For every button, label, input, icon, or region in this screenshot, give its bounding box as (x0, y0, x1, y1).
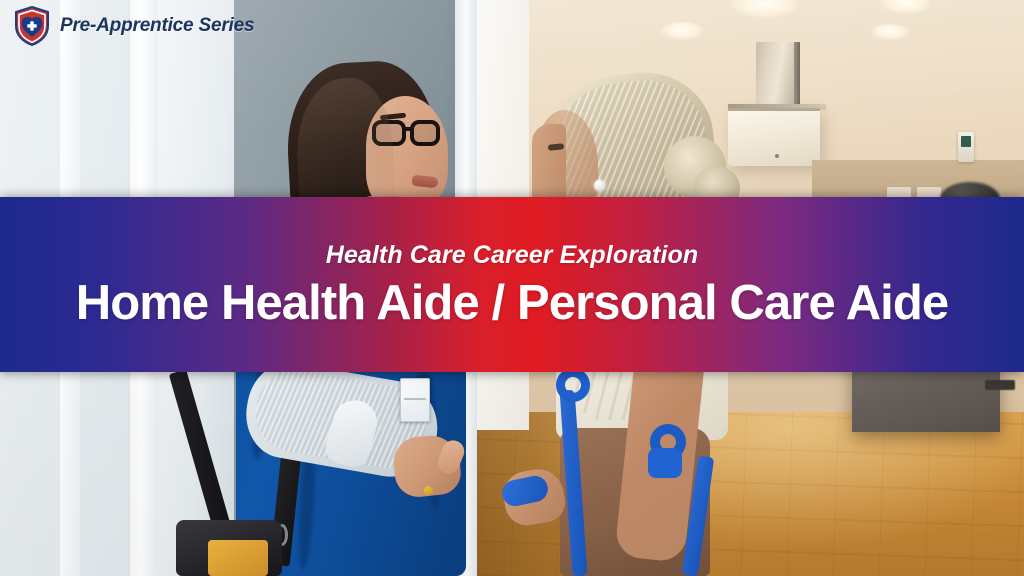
brand-logo[interactable]: Pre-Apprentice Series (14, 6, 254, 46)
earring-icon (594, 180, 605, 191)
crutch-arm-cuff (556, 368, 590, 402)
ceiling-light-icon (660, 22, 704, 40)
furniture-leg (985, 380, 1015, 390)
banner-graphic: Pre-Apprentice Series Health Care Career… (0, 0, 1024, 576)
id-badge-line (404, 398, 426, 400)
banner-subtitle: Health Care Career Exploration (326, 241, 699, 270)
title-banner: Health Care Career Exploration Home Heal… (0, 197, 1024, 372)
banner-title: Home Health Aide / Personal Care Aide (76, 278, 949, 329)
brand-name: Pre-Apprentice Series (60, 15, 254, 37)
range-hood-button (775, 154, 779, 158)
thermostat (958, 132, 974, 162)
bag-accent (208, 540, 268, 576)
ring-icon (424, 486, 433, 495)
id-badge (400, 378, 430, 422)
ceiling-light-icon (870, 24, 910, 40)
range-hood-stack (756, 42, 796, 110)
crutch-pad (648, 448, 682, 478)
range-hood (728, 108, 820, 166)
shield-heart-cross-icon (14, 6, 50, 46)
glasses-lens-right (410, 120, 440, 146)
